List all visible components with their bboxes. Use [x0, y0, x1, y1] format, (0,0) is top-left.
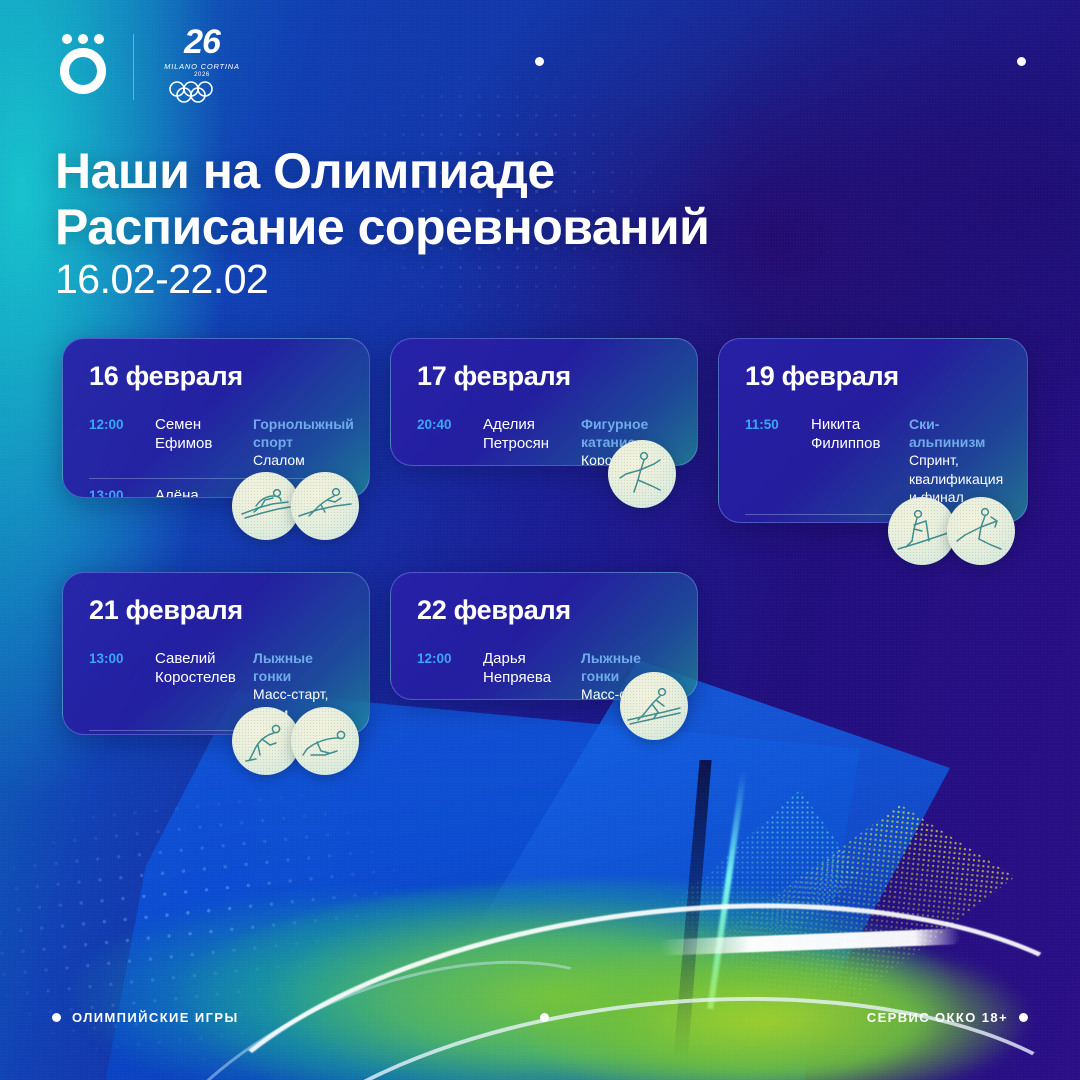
alpine-skiing-pictogram-icon	[232, 472, 300, 540]
card-date: 22 февраля	[417, 595, 671, 626]
footer-right: Сервис Окко 18+	[867, 1010, 1028, 1025]
event-time: 11:50	[745, 415, 811, 432]
medallion-group	[232, 707, 359, 775]
poster-stage: 26 MILANO CORTINA 2026 Наши на Олимпиаде…	[0, 0, 1080, 1080]
event-athlete: Семен Ефимов	[155, 415, 253, 453]
footer-right-label: Сервис Окко 18+	[867, 1010, 1008, 1025]
medallion-group	[608, 440, 676, 508]
event-athlete: Дарья Непряева	[483, 649, 581, 687]
speed-skating-pictogram-icon	[291, 707, 359, 775]
event-sport: Ски-альпинизм	[909, 415, 1003, 451]
footer: Олимпийские игры Сервис Окко 18+	[0, 1010, 1080, 1028]
event-time: 13:00	[89, 649, 155, 666]
event-sport: Лыжные гонки	[253, 649, 343, 685]
speed-skating-pictogram-icon	[232, 707, 300, 775]
event-sport: Горнолыжный спорт	[253, 415, 354, 451]
event-time: 12:00	[417, 649, 483, 666]
medallion-group	[888, 497, 1015, 565]
card-date: 16 февраля	[89, 361, 343, 392]
card-date: 17 февраля	[417, 361, 671, 392]
bullet-icon	[1019, 1013, 1028, 1022]
bullet-icon	[540, 1013, 549, 1022]
figure-skating-pictogram-icon	[608, 440, 676, 508]
event-athlete: Савелий Коростелев	[155, 649, 253, 687]
schedule-card[interactable]: 19 февраля 11:50 Никита Филиппов Ски-аль…	[718, 338, 1028, 523]
event-time: 21:00	[745, 522, 811, 523]
short-track-pictogram-icon	[291, 472, 359, 540]
card-date: 19 февраля	[745, 361, 1001, 392]
event-row[interactable]: 12:00 Семен Ефимов Горнолыжный спорт Сла…	[89, 408, 343, 478]
figure-skating-pictogram-icon	[947, 497, 1015, 565]
footer-left: Олимпийские игры	[52, 1010, 239, 1025]
event-time: 20:40	[417, 415, 483, 432]
card-date: 21 февраля	[89, 595, 343, 626]
event-sport-cell: Горнолыжный спорт Слалом	[253, 415, 354, 470]
cross-country-skiing-pictogram-icon	[620, 672, 688, 740]
medallion-group	[620, 672, 688, 740]
event-athlete: Аделия Петросян	[483, 415, 581, 453]
footer-left-label: Олимпийские игры	[72, 1010, 239, 1025]
event-sport-cell: Ски-альпинизм Спринт, квалификация и фин…	[909, 415, 1003, 506]
event-time: 12:00	[89, 415, 155, 432]
bullet-icon	[52, 1013, 61, 1022]
event-detail: Слалом	[253, 451, 354, 469]
event-time: 13:00	[89, 486, 155, 498]
medallion-group	[232, 472, 359, 540]
ski-mountaineering-pictogram-icon	[888, 497, 956, 565]
event-athlete: Никита Филиппов	[811, 415, 909, 453]
